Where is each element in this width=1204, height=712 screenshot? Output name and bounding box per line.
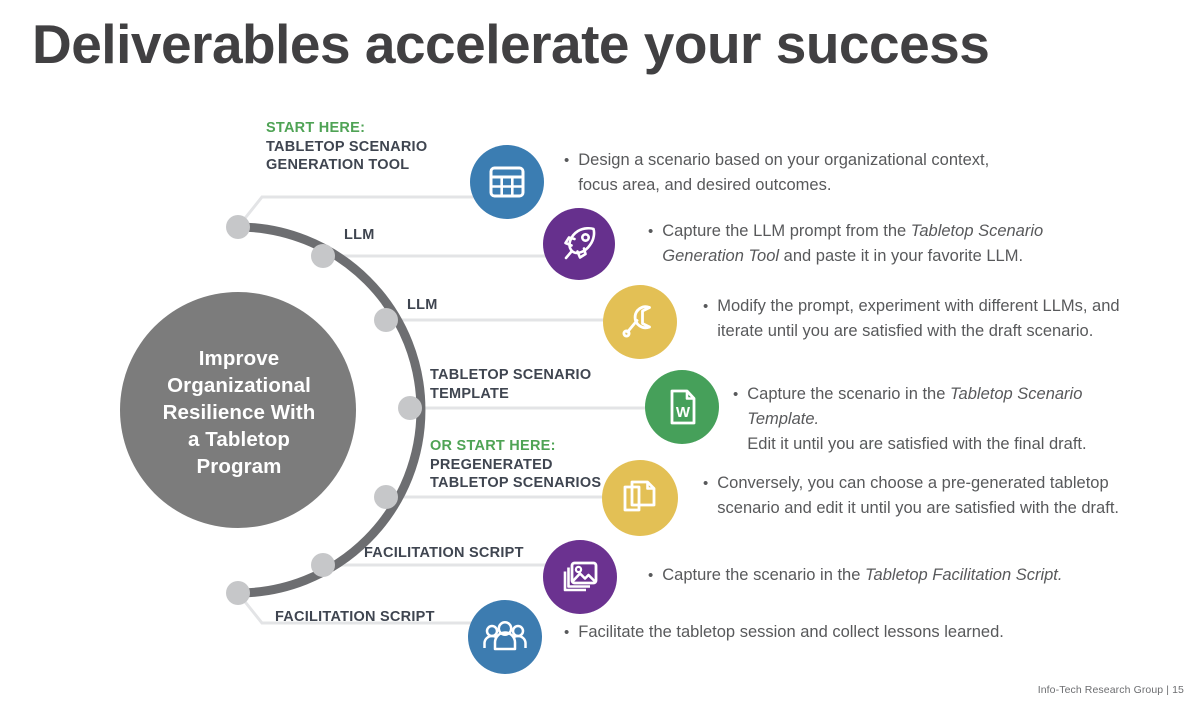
- hub-label-line-3: Resilience With: [163, 401, 316, 424]
- stage-label-text: FACILITATION SCRIPT: [364, 545, 524, 561]
- bullet-dot: •: [564, 148, 569, 173]
- node-stage-3: [398, 396, 422, 420]
- svg-text:W: W: [676, 404, 691, 421]
- stage-label-facilitation-script-capture: FACILITATION SCRIPT: [364, 544, 524, 563]
- stage-label-line-2: TABLETOP SCENARIO: [266, 139, 427, 155]
- icon-badge-wrench[interactable]: [603, 285, 677, 359]
- bullet-facilitation-session: • Facilitate the tabletop session and co…: [564, 620, 1014, 645]
- bullet-dot: •: [648, 563, 653, 588]
- bullet-text: Capture the LLM prompt from the Tabletop…: [662, 219, 1043, 269]
- bullet-scenario-generation-tool: • Design a scenario based on your organi…: [564, 148, 1034, 198]
- stage-label-scenario-template: TABLETOP SCENARIO TEMPLATE: [430, 366, 591, 403]
- node-stage-4: [374, 485, 398, 509]
- hub-label-line-1: Improve: [199, 347, 279, 370]
- icon-badge-people-group[interactable]: [468, 600, 542, 674]
- node-stage-0: [226, 215, 250, 239]
- bullet-text: Capture the scenario in the Tabletop Fac…: [662, 563, 1062, 588]
- hub-label-line-4: a Tabletop: [188, 428, 290, 451]
- wrench-icon: [619, 301, 661, 343]
- bullet-dot: •: [648, 219, 653, 244]
- stage-label-line-3: GENERATION TOOL: [266, 157, 409, 173]
- stage-label-pregenerated-scenarios: OR START HERE: PREGENERATED TABLETOP SCE…: [430, 437, 601, 493]
- hub-label-line-5: Program: [196, 455, 281, 478]
- start-here-tag: START HERE:: [266, 119, 427, 138]
- bullet-llm-prompt: • Capture the LLM prompt from the Tablet…: [648, 219, 1068, 269]
- people-group-icon: [483, 617, 527, 657]
- stage-label-facilitation-session: FACILITATION SCRIPT: [275, 608, 435, 627]
- rocket-icon: [558, 223, 600, 265]
- bullet-text: Capture the scenario in the Tabletop Sce…: [747, 382, 1153, 457]
- image-gallery-icon: [559, 556, 601, 598]
- node-stage-2: [374, 308, 398, 332]
- bullet-pregenerated-scenarios: • Conversely, you can choose a pre-gener…: [703, 471, 1123, 521]
- bullet-dot: •: [564, 620, 569, 645]
- slide-canvas: Deliverables accelerate your success: [0, 0, 1204, 712]
- node-stage-5: [311, 553, 335, 577]
- stage-label-line-2: PREGENERATED: [430, 457, 553, 473]
- bullet-text: Facilitate the tabletop session and coll…: [578, 620, 1004, 645]
- stage-label-line-1: TABLETOP SCENARIO: [430, 367, 591, 383]
- bullet-dot: •: [733, 382, 738, 407]
- or-start-here-tag: OR START HERE:: [430, 437, 601, 456]
- icon-badge-table-grid[interactable]: [470, 145, 544, 219]
- stage-label-line-2: TEMPLATE: [430, 386, 509, 402]
- hub-label: Improve Organizational Resilience With a…: [120, 345, 358, 480]
- stage-label-text: FACILITATION SCRIPT: [275, 609, 435, 625]
- copy-documents-icon: [619, 477, 661, 519]
- stage-label-llm-iterate: LLM: [407, 296, 438, 315]
- connector-stage-0: [238, 197, 516, 227]
- node-stage-1: [311, 244, 335, 268]
- icon-badge-copy-documents[interactable]: [602, 460, 678, 536]
- bullet-text: Modify the prompt, experiment with diffe…: [717, 294, 1119, 344]
- hub-label-line-2: Organizational: [167, 374, 311, 397]
- stage-label-llm-prompt: LLM: [344, 226, 375, 245]
- stage-label-text: LLM: [407, 297, 438, 313]
- bullet-scenario-template: • Capture the scenario in the Tabletop S…: [733, 382, 1153, 457]
- bullet-llm-iterate: • Modify the prompt, experiment with dif…: [703, 294, 1123, 344]
- icon-badge-word-document[interactable]: W: [645, 370, 719, 444]
- bullet-facilitation-script-capture: • Capture the scenario in the Tabletop F…: [648, 563, 1078, 588]
- icon-badge-rocket[interactable]: [543, 208, 615, 280]
- slide-footer: Info-Tech Research Group | 15: [1038, 684, 1184, 696]
- stage-label-line-3: TABLETOP SCENARIOS: [430, 475, 601, 491]
- bullet-dot: •: [703, 294, 708, 319]
- icon-badge-image-gallery[interactable]: [543, 540, 617, 614]
- bullet-text: Conversely, you can choose a pre-generat…: [717, 471, 1119, 521]
- table-grid-icon: [487, 162, 527, 202]
- node-stage-6: [226, 581, 250, 605]
- bullet-text: Design a scenario based on your organiza…: [578, 148, 989, 198]
- bullet-dot: •: [703, 471, 708, 496]
- word-document-icon: W: [662, 387, 702, 427]
- stage-label-text: LLM: [344, 227, 375, 243]
- stage-label-scenario-generation-tool: START HERE: TABLETOP SCENARIO GENERATION…: [266, 119, 427, 175]
